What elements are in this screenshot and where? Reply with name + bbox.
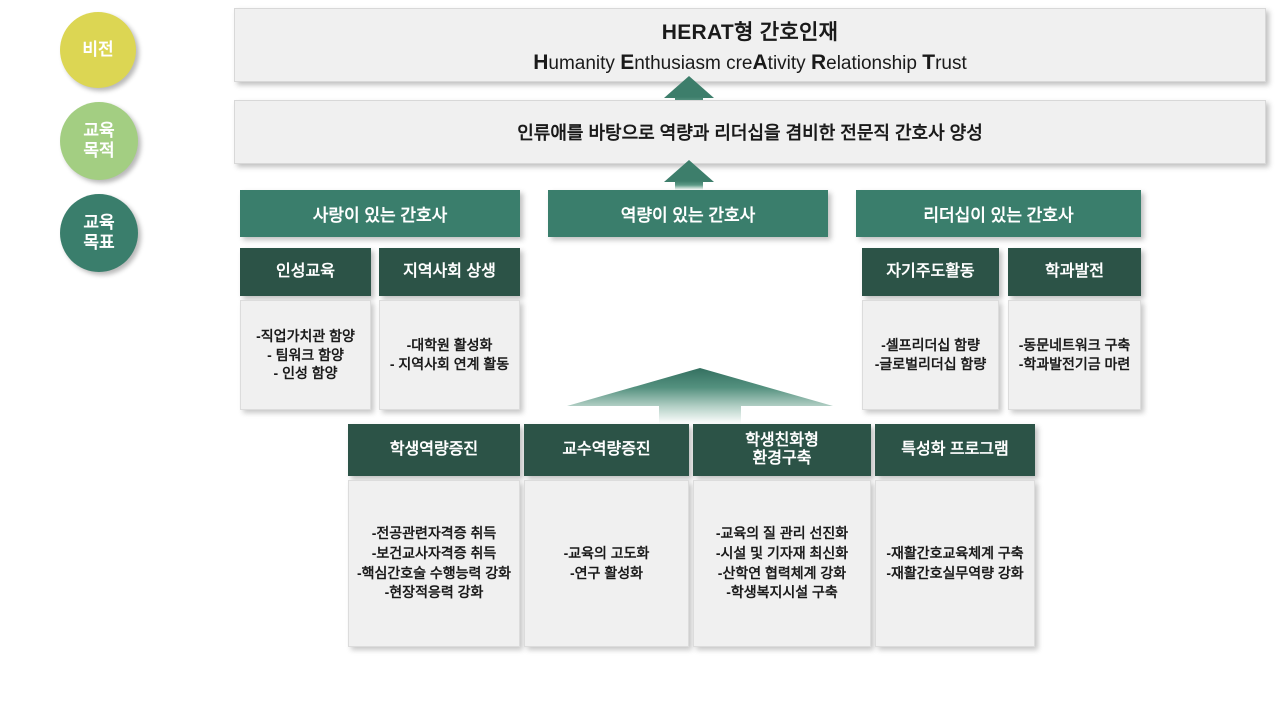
bottom-header-student-friendly-environment: 학생친화형 환경구축 <box>693 424 871 476</box>
pillar-header-leadership: 리더십이 있는 간호사 <box>856 190 1141 237</box>
bottom-header-student-competency: 학생역량증진 <box>348 424 520 476</box>
category-circle-education-goal: 교육 목표 <box>60 194 138 272</box>
vision-banner: HERAT형 간호인재 Humanity Enthusiasm creAtivi… <box>234 8 1266 82</box>
diagram-canvas: 비전 교육 목적 교육 목표 HERAT형 간호인재 Humanity Enth… <box>0 0 1280 720</box>
pillar-header-capacity: 역량이 있는 간호사 <box>548 190 828 237</box>
education-purpose-banner: 인류애를 바탕으로 역량과 리더십을 겸비한 전문직 간호사 양성 <box>234 100 1266 164</box>
subbox-body-department-development: -동문네트워크 구축 -학과발전기금 마련 <box>1008 300 1141 410</box>
subbox-body-self-directed-activity: -셀프리더십 함량 -글로벌리더십 함량 <box>862 300 999 410</box>
category-circle-vision: 비전 <box>60 12 136 88</box>
subbox-header-department-development: 학과발전 <box>1008 248 1141 296</box>
bottom-header-faculty-competency: 교수역량증진 <box>524 424 689 476</box>
wide-arrow-up-icon <box>565 366 835 424</box>
vision-subtitle: Humanity Enthusiasm creAtivity Relations… <box>533 51 967 75</box>
bottom-body-faculty-competency: -교육의 고도화 -연구 활성화 <box>524 480 689 647</box>
arrow-up-icon-purpose <box>664 160 714 182</box>
bottom-body-student-friendly-environment: -교육의 질 관리 선진화 -시설 및 기자재 최신화 -산학연 협력체계 강화… <box>693 480 871 647</box>
arrow-up-icon-vision <box>664 76 714 98</box>
subbox-body-community-coexistence: -대학원 활성화 - 지역사회 연계 활동 <box>379 300 520 410</box>
subbox-body-character-education: -직업가치관 함양 - 팀워크 함양 - 인성 함양 <box>240 300 371 410</box>
bottom-body-student-competency: -전공관련자격증 취득 -보건교사자격증 취득 -핵심간호술 수행능력 강화 -… <box>348 480 520 647</box>
category-circle-education-purpose: 교육 목적 <box>60 102 138 180</box>
bottom-header-specialized-program: 특성화 프로그램 <box>875 424 1035 476</box>
pillar-header-love: 사랑이 있는 간호사 <box>240 190 520 237</box>
subbox-header-self-directed-activity: 자기주도활동 <box>862 248 999 296</box>
subbox-header-community-coexistence: 지역사회 상생 <box>379 248 520 296</box>
bottom-body-specialized-program: -재활간호교육체계 구축 -재활간호실무역량 강화 <box>875 480 1035 647</box>
vision-title: HERAT형 간호인재 <box>662 16 839 46</box>
subbox-header-character-education: 인성교육 <box>240 248 371 296</box>
arrow-stem-purpose <box>675 181 703 190</box>
